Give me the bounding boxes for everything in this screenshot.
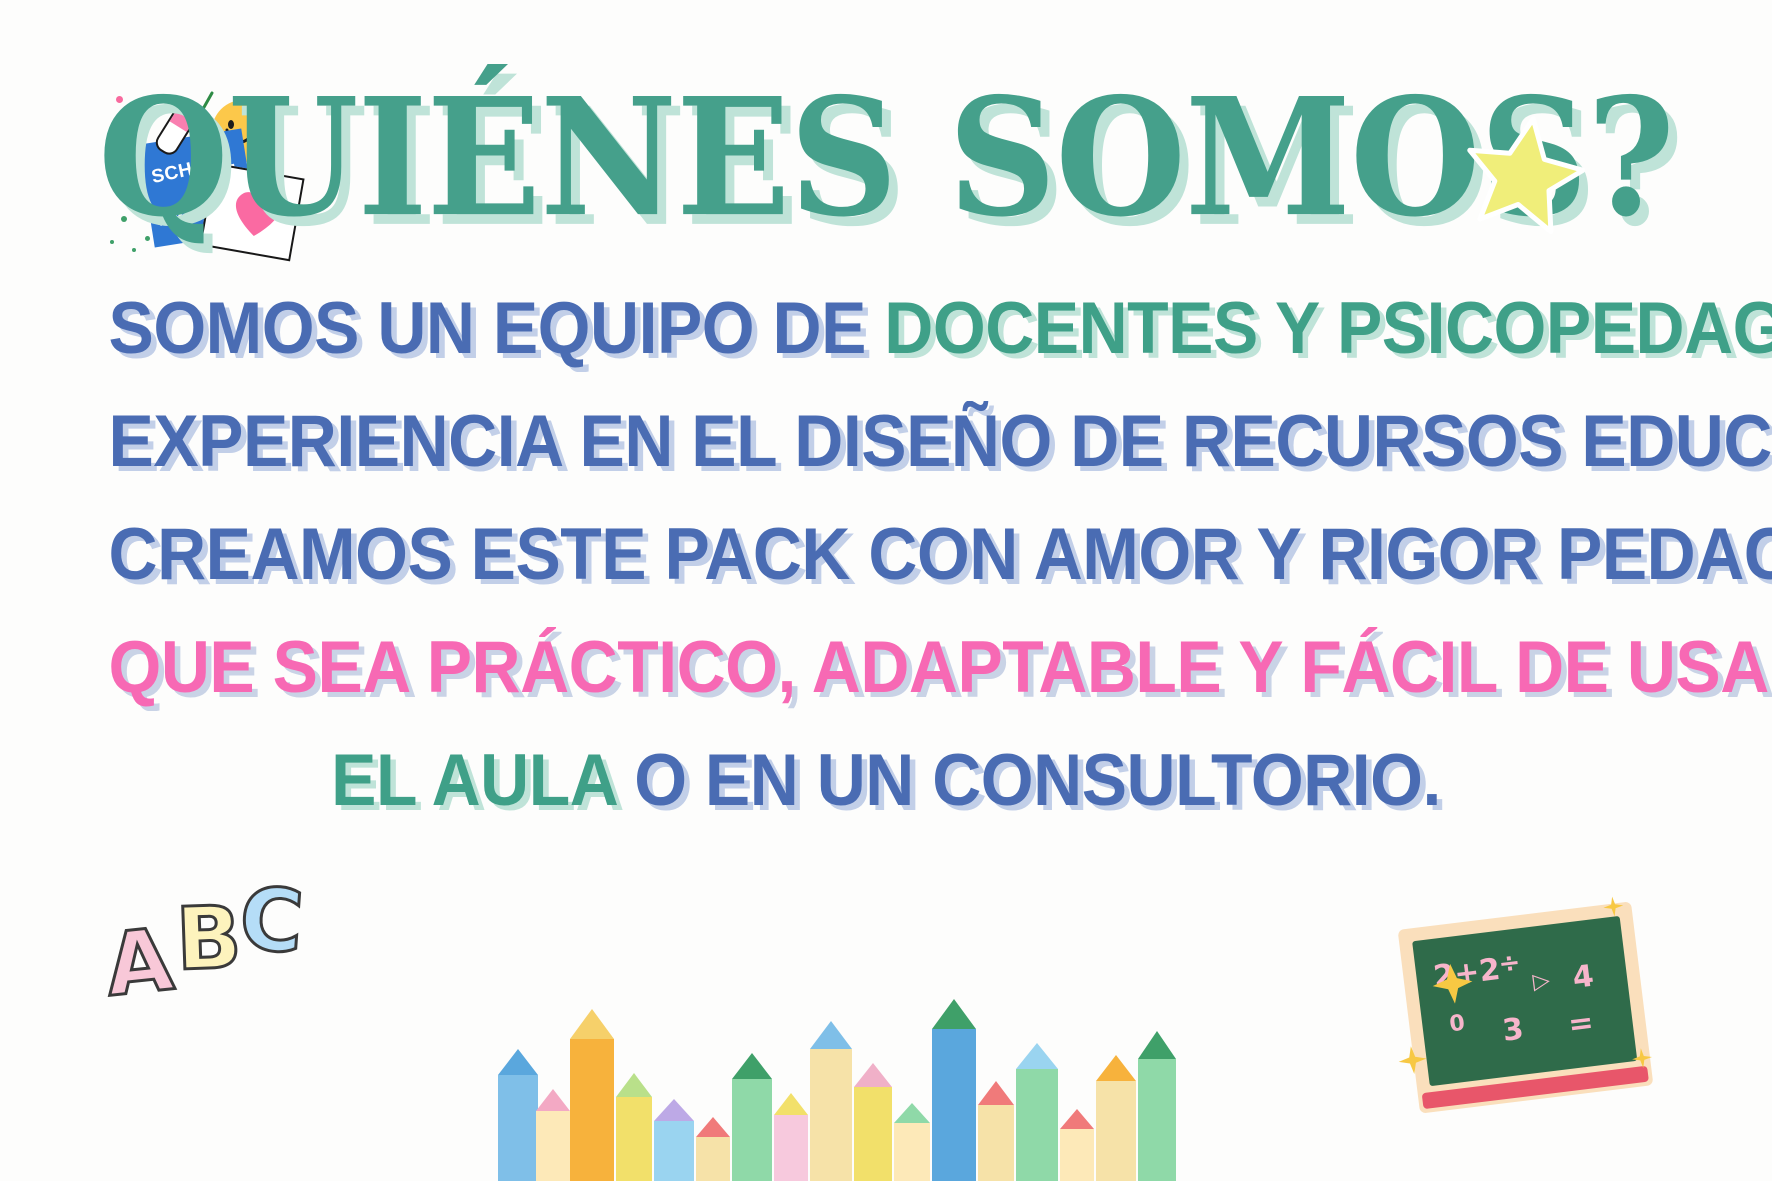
letter-a: A bbox=[102, 917, 177, 1009]
chalk-triangle-icon: ▷ bbox=[1531, 968, 1551, 995]
pencil bbox=[894, 1103, 930, 1181]
pencil bbox=[1096, 1055, 1136, 1181]
pencil bbox=[978, 1081, 1014, 1181]
chalk-three: 3 bbox=[1501, 1012, 1526, 1049]
text-segment: QUE SEA PRÁCTICO, ADAPTABLE Y FÁCIL DE U… bbox=[109, 627, 1772, 708]
sparkle-icon bbox=[1601, 894, 1626, 919]
paragraph-line-1: SOMOS UN EQUIPO DE DOCENTES Y PSICOPEDAG… bbox=[109, 272, 1664, 385]
text-segment: DOCENTES Y PSICOPEDAGOGOS bbox=[884, 288, 1772, 369]
pencil bbox=[1138, 1031, 1176, 1181]
abc-letters-decoration: A B C bbox=[100, 872, 340, 1022]
paragraph-line-3: CREAMOS ESTE PACK CON AMOR Y RIGOR PEDAG… bbox=[109, 498, 1664, 611]
pencil bbox=[696, 1117, 730, 1181]
pencil bbox=[1060, 1109, 1094, 1181]
pencil bbox=[854, 1063, 892, 1181]
text-segment: EL AULA bbox=[331, 740, 634, 821]
paragraph-line-2: EXPERIENCIA EN EL DISEÑO DE RECURSOS EDU… bbox=[109, 385, 1664, 498]
pencil bbox=[774, 1093, 808, 1181]
paragraph-line-4: QUE SEA PRÁCTICO, ADAPTABLE Y FÁCIL DE U… bbox=[109, 611, 1664, 724]
chalk-divide-icon: ÷ bbox=[1497, 947, 1522, 979]
letter-c: C bbox=[237, 876, 306, 966]
colored-pencils-decoration bbox=[498, 975, 1258, 1181]
poster-canvas: SCHOOL QUIÉNES SOMOS? SOMOS UN EQUIPO DE… bbox=[0, 0, 1772, 1181]
pencil bbox=[498, 1049, 538, 1181]
text-segment: SOMOS UN EQUIPO DE bbox=[109, 288, 885, 369]
letter-b: B bbox=[175, 895, 244, 983]
about-paragraph: SOMOS UN EQUIPO DE DOCENTES Y PSICOPEDAG… bbox=[50, 272, 1722, 837]
text-segment: CREAMOS ESTE PACK CON AMOR Y RIGOR PEDAG… bbox=[109, 514, 1772, 595]
text-segment: EXPERIENCIA EN EL DISEÑO DE RECURSOS EDU… bbox=[109, 401, 1772, 482]
text-segment: O EN UN CONSULTORIO. bbox=[634, 740, 1441, 821]
pencil bbox=[616, 1073, 652, 1181]
star-icon bbox=[1455, 102, 1594, 239]
pencil bbox=[654, 1099, 694, 1181]
chalk-four: 4 bbox=[1571, 959, 1596, 996]
chalkboard-decoration: 2+2 ÷ ▷ 4 0 3 = bbox=[1398, 901, 1654, 1113]
paragraph-line-5: EL AULA O EN UN CONSULTORIO. bbox=[109, 724, 1664, 837]
chalk-equals-icon: = bbox=[1566, 1005, 1595, 1043]
page-title: QUIÉNES SOMOS? bbox=[98, 77, 1674, 239]
pencil bbox=[732, 1053, 772, 1181]
pencil bbox=[536, 1089, 570, 1181]
pencil bbox=[1016, 1043, 1058, 1181]
chalk-zero: 0 bbox=[1448, 1011, 1466, 1038]
sparkle-icon bbox=[1396, 1043, 1429, 1076]
pencil bbox=[932, 999, 976, 1181]
pencil bbox=[810, 1021, 852, 1181]
sparkle-icon bbox=[1630, 1046, 1655, 1071]
pencil bbox=[570, 1009, 614, 1181]
sparkle-icon bbox=[1428, 959, 1477, 1008]
